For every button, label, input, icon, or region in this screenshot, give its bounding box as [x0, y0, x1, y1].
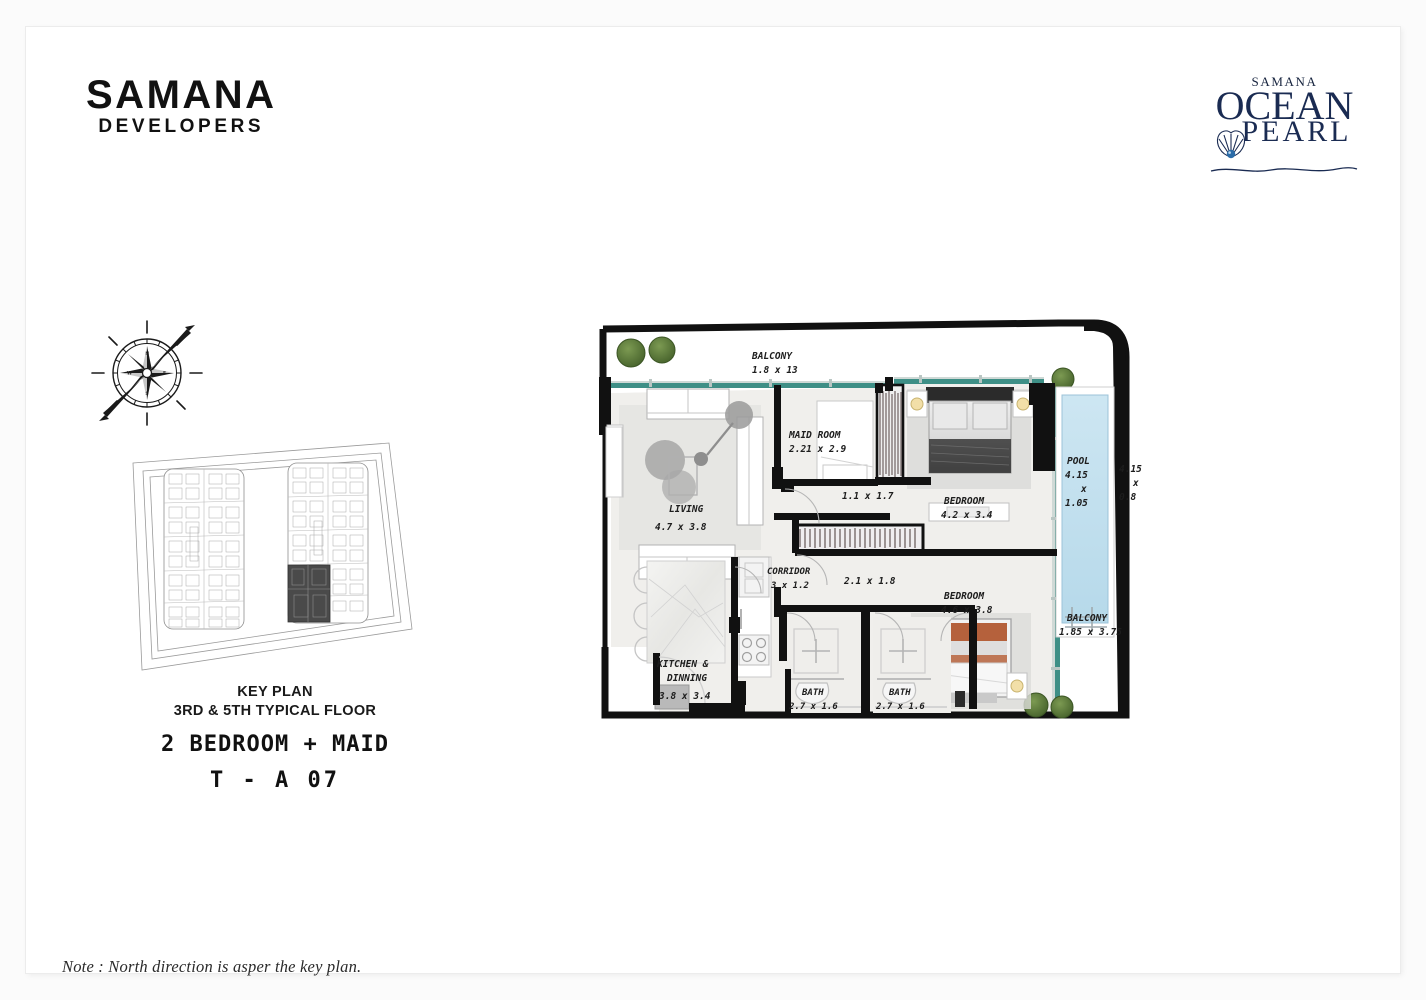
label-balcony-right: BALCONY	[1066, 613, 1108, 624]
key-plan-highlighted-unit	[288, 565, 330, 622]
svg-text:S: S	[145, 391, 148, 397]
seashell-icon	[1213, 127, 1249, 161]
label-bath-left: BATH	[801, 688, 824, 698]
label-corridor: CORRIDOR	[767, 567, 811, 577]
label-wc-dims: 1.1 x 1.7	[842, 491, 894, 502]
label-pool-side-d3: 0.8	[1119, 492, 1136, 503]
label-kitchen-dims: 3.8 x 3.4	[658, 691, 711, 702]
label-laundry-dims: 2.1 x 1.8	[843, 576, 896, 587]
unit-code-label: T - A 07	[120, 766, 430, 796]
wave-icon	[1209, 161, 1359, 169]
key-plan-title: KEY PLAN	[130, 683, 420, 702]
key-plan-caption: KEY PLAN 3RD & 5TH TYPICAL FLOOR	[130, 683, 420, 721]
note-text: Note : North direction is asper the key …	[62, 957, 361, 977]
label-pool: POOL	[1067, 456, 1090, 467]
key-plan-diagram[interactable]	[130, 441, 415, 673]
unit-type-label: 2 BEDROOM + MAID	[120, 730, 430, 760]
label-kitchen-l1: KITCHEN &	[656, 659, 709, 670]
wardrobe-icon-2	[795, 525, 923, 551]
label-pool-side-d2: x	[1132, 478, 1139, 489]
label-kitchen-l2: DINNING	[666, 673, 707, 684]
windows	[606, 427, 622, 497]
label-bath-left-dims: 2.7 x 1.6	[788, 702, 838, 712]
svg-text:W: W	[127, 371, 132, 377]
svg-text:E: E	[163, 371, 166, 377]
label-living: LIVING	[669, 504, 704, 515]
label-pool-d1: 4.15	[1065, 470, 1088, 481]
compass-rose-icon: N S W E	[88, 319, 206, 427]
label-balcony-top-dims: 1.8 x 13	[752, 365, 798, 376]
label-maid-room-dims: 2.21 x 2.9	[788, 444, 846, 455]
samana-developers-logo: SAMANA DEVELOPERS	[86, 75, 277, 138]
label-pool-d2: x	[1080, 484, 1087, 495]
label-bedroom-2: BEDROOM	[943, 591, 984, 602]
brand-subtitle: DEVELOPERS	[86, 116, 277, 138]
label-balcony-right-dims: 1.85 x 3.75	[1059, 627, 1122, 638]
label-bath-right-dims: 2.7 x 1.6	[875, 702, 925, 712]
brand-name: SAMANA	[86, 75, 277, 115]
pool-area	[1056, 387, 1114, 637]
label-bedroom-1: BEDROOM	[943, 496, 984, 507]
page-background: SAMANA DEVELOPERS SAMANA OCEAN PEARL	[0, 0, 1426, 1000]
label-pool-side-d1: 4.15	[1119, 464, 1142, 475]
maid-room-furniture	[817, 401, 873, 483]
key-plan-floor: 3RD & 5TH TYPICAL FLOOR	[130, 702, 420, 721]
unit-floor-plan[interactable]: BALCONY 1.8 x 13 MAID ROOM 2.21 x 2.9 LI…	[589, 317, 1159, 737]
label-living-dims: 4.7 x 3.8	[655, 522, 707, 533]
label-bedroom-2-dims: 4.6 x 3.8	[941, 605, 993, 616]
unit-type-block: 2 BEDROOM + MAID T - A 07	[120, 730, 430, 796]
label-bedroom-1-dims: 4.2 x 3.4	[941, 510, 993, 521]
label-balcony-top: BALCONY	[751, 351, 793, 362]
label-maid-room: MAID ROOM	[788, 430, 841, 441]
ocean-pearl-logo: SAMANA OCEAN PEARL	[1207, 75, 1362, 170]
wardrobe-icon-1	[877, 385, 903, 481]
floor-plan-sheet: SAMANA DEVELOPERS SAMANA OCEAN PEARL	[26, 27, 1400, 973]
label-bath-right: BATH	[888, 688, 911, 698]
label-pool-d3: 1.05	[1065, 498, 1088, 509]
label-corridor-dims: 3 x 1.2	[770, 581, 809, 591]
svg-text:N: N	[145, 351, 149, 357]
